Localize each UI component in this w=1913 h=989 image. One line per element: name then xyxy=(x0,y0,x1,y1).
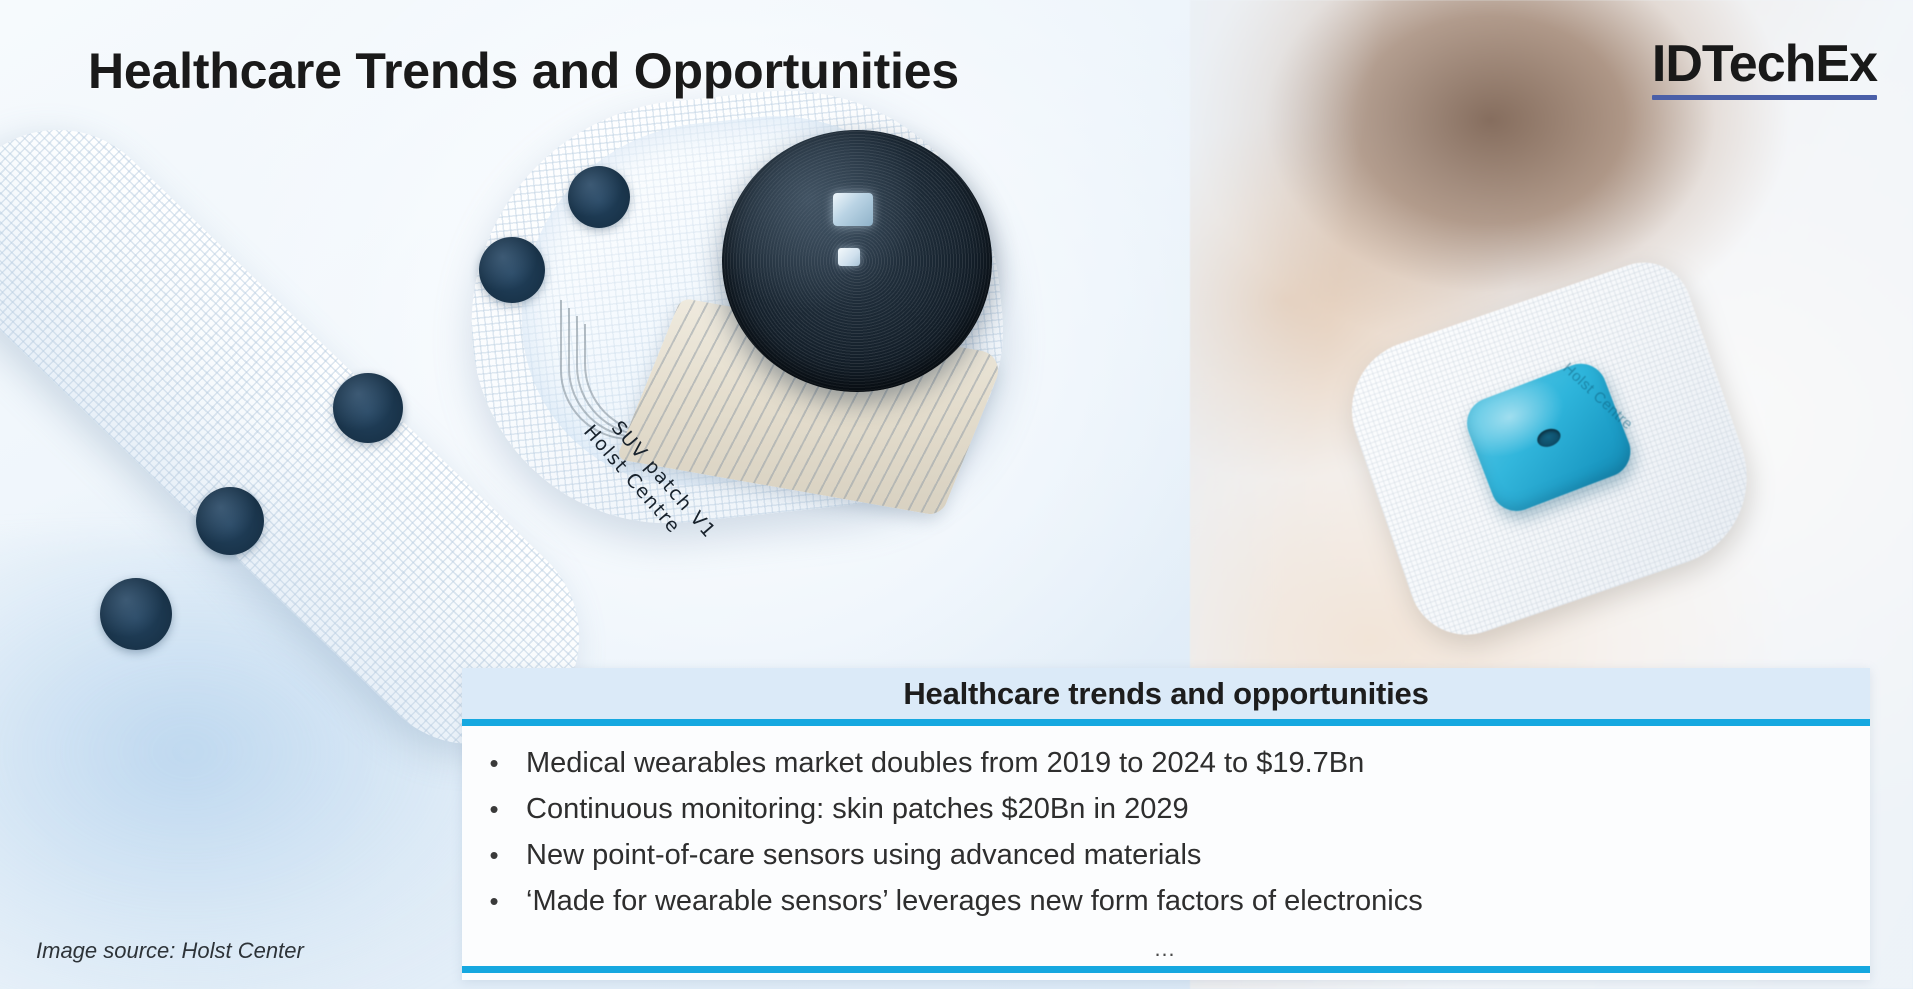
sensor-disc xyxy=(722,130,992,392)
skin-patch: Holst Centre xyxy=(1333,250,1771,651)
brand-underline xyxy=(1652,95,1877,100)
list-item: • New point-of-care sensors using advanc… xyxy=(462,832,1870,878)
bullet-icon: • xyxy=(462,750,526,776)
list-item: • Medical wearables market doubles from … xyxy=(462,740,1870,786)
callout-header: Healthcare trends and opportunities xyxy=(462,668,1870,726)
list-item: • ‘Made for wearable sensors’ leverages … xyxy=(462,878,1870,924)
device-label: Holst Centre xyxy=(1503,360,1636,493)
electrode-dot xyxy=(479,237,545,303)
slide-canvas: Holst Centre SUV patch V1 Holst Centre H… xyxy=(0,0,1913,989)
list-item-text: New point-of-care sensors using advanced… xyxy=(526,835,1201,875)
brand-name: IDTechEx xyxy=(1652,38,1877,90)
list-item-text: Medical wearables market doubles from 20… xyxy=(526,743,1364,783)
callout-title: Healthcare trends and opportunities xyxy=(903,676,1428,712)
electrode-dot xyxy=(333,373,403,443)
patch-handwritten-label: Holst Centre SUV patch V1 xyxy=(590,381,820,569)
bullet-icon: • xyxy=(462,796,526,822)
electrode-dot xyxy=(100,578,172,650)
list-item-text: Continuous monitoring: skin patches $20B… xyxy=(526,789,1189,829)
list-item: • Continuous monitoring: skin patches $2… xyxy=(462,786,1870,832)
electrode-dot xyxy=(568,166,630,228)
continuation-ellipsis: … xyxy=(462,936,1870,962)
electrode-dot xyxy=(196,487,264,555)
device-aperture xyxy=(1544,434,1553,442)
summary-callout-panel: Healthcare trends and opportunities • Me… xyxy=(462,668,1870,980)
list-item-text: ‘Made for wearable sensors’ leverages ne… xyxy=(526,881,1423,921)
callout-body: • Medical wearables market doubles from … xyxy=(462,726,1870,973)
image-source-note: Image source: Holst Center xyxy=(36,938,304,964)
bullet-icon: • xyxy=(462,842,526,868)
page-title: Healthcare Trends and Opportunities xyxy=(88,42,959,100)
brand-logo: IDTechEx xyxy=(1652,38,1877,100)
wearable-device: Holst Centre xyxy=(1459,356,1638,518)
bullet-list: • Medical wearables market doubles from … xyxy=(462,740,1870,924)
bullet-icon: • xyxy=(462,888,526,914)
